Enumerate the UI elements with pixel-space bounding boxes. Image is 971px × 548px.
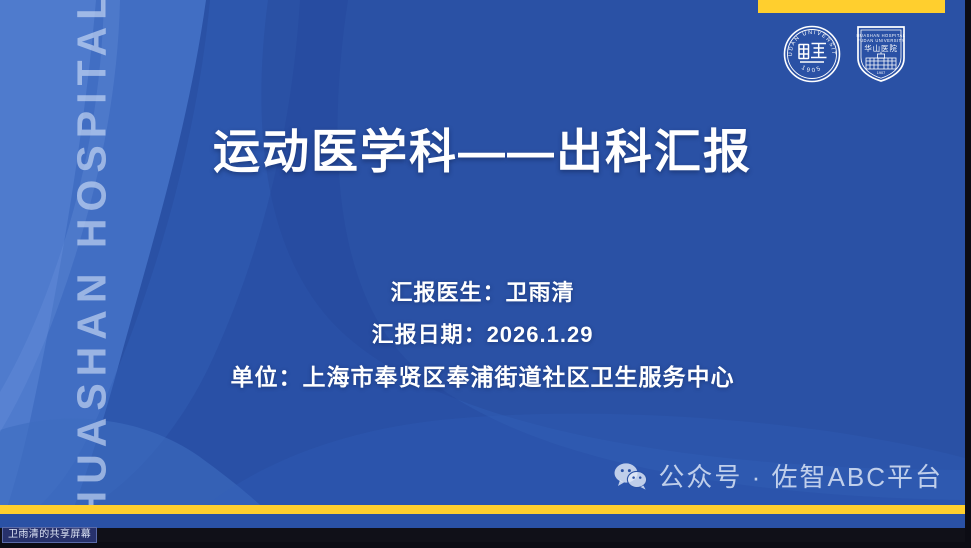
- presentation-slide: HUASHAN HOSPITAL FUDAN UNIVERSITY 1905: [0, 0, 965, 528]
- meta-line-presenter: 汇报医生：卫雨清: [0, 272, 965, 314]
- svg-text:FUDAN UNIVERSITY: FUDAN UNIVERSITY: [857, 38, 905, 43]
- svg-text:1905: 1905: [800, 65, 824, 74]
- bottom-accent-rule: [0, 505, 965, 514]
- slide-title: 运动医学科——出科汇报: [0, 113, 965, 182]
- vertical-wordmark: HUASHAN HOSPITAL: [72, 21, 113, 521]
- screen-share-view: HUASHAN HOSPITAL FUDAN UNIVERSITY 1905: [0, 0, 971, 548]
- wechat-icon: [614, 462, 648, 490]
- fudan-university-seal-icon: FUDAN UNIVERSITY 1905: [783, 25, 841, 83]
- meta-line-date: 汇报日期：2026.1.29: [0, 314, 965, 356]
- wechat-watermark: 公众号 · 佐智ABC平台: [614, 457, 943, 494]
- top-accent-bar: [758, 0, 945, 13]
- logo-group: FUDAN UNIVERSITY 1905: [783, 24, 907, 84]
- watermark-text: 公众号 · 佐智ABC平台: [658, 457, 943, 494]
- svg-text:1907: 1907: [877, 71, 885, 75]
- frame-edge-bottom: [0, 542, 971, 548]
- screen-share-indicator: 卫雨清的共享屏幕: [2, 527, 97, 543]
- frame-edge-right: [965, 0, 971, 548]
- bottom-strip: [0, 514, 965, 528]
- svg-text:华山医院: 华山医院: [864, 43, 898, 53]
- slide-meta-block: 汇报医生：卫雨清 汇报日期：2026.1.29 单位：上海市奉贤区奉浦街道社区卫…: [0, 272, 965, 398]
- meta-line-organization: 单位：上海市奉贤区奉浦街道社区卫生服务中心: [0, 356, 965, 398]
- huashan-hospital-shield-icon: HUASHAN HOSPITAL FUDAN UNIVERSITY 华山医院: [855, 24, 907, 84]
